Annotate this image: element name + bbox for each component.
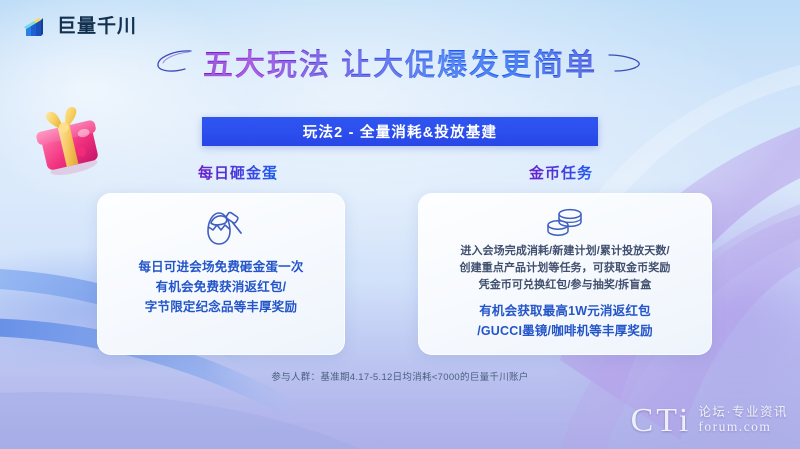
bar-chart-logo-icon [24, 14, 50, 38]
column-title-right: 金币任务 [529, 162, 593, 183]
column-title-left: 每日砸金蛋 [198, 162, 278, 183]
card-coin-task: 进入会场完成消耗/新建计划/累计投放天数/ 创建重点产品计划等任务，可获取金币奖… [418, 193, 712, 355]
footnote: 参与人群：基准期4.17-5.12日均消耗<7000的巨量千川账户 [0, 369, 800, 383]
spacer [418, 294, 712, 301]
card-line: 进入会场完成消耗/新建计划/累计投放天数/ [418, 243, 712, 260]
watermark-text-block: 论坛·专业资讯 forum.com [698, 405, 788, 437]
card-line-highlight: /GUCCI墨镜/咖啡机等丰厚奖励 [418, 321, 712, 341]
card-line: 字节限定纪念品等丰厚奖励 [97, 297, 345, 317]
card-line: 创建重点产品计划等任务，可获取金币奖励 [418, 260, 712, 277]
watermark-cn-text: 论坛·专业资讯 [698, 405, 788, 419]
swoosh-right-icon [607, 49, 645, 75]
headline-row: 五大玩法 让大促爆发更简单 [0, 40, 800, 84]
card-icon-wrap-left [97, 205, 345, 249]
brand-logo: 巨量千川 [24, 12, 137, 40]
card-line: 凭金币可兑换红包/参与抽奖/拆盲盒 [418, 277, 712, 294]
card-icon-wrap-right [418, 205, 712, 241]
card-body-left: 每日可进会场免费砸金蛋一次 有机会免费获消返红包/ 字节限定纪念品等丰厚奖励 [97, 257, 345, 317]
section-banner: 玩法2 - 全量消耗&投放基建 [202, 117, 598, 146]
gift-box-icon [23, 97, 112, 186]
watermark-url: forum.com [698, 419, 788, 435]
card-daily-egg: 每日可进会场免费砸金蛋一次 有机会免费获消返红包/ 字节限定纪念品等丰厚奖励 [97, 193, 345, 355]
watermark-logo: CTi [631, 405, 692, 437]
section-banner-text: 玩法2 - 全量消耗&投放基建 [303, 121, 497, 142]
card-line-highlight: 有机会获取最高1W元消返红包 [418, 301, 712, 321]
brand-logo-text: 巨量千川 [57, 17, 137, 36]
stacked-coins-icon [541, 205, 589, 241]
watermark: CTi 论坛·专业资讯 forum.com [631, 405, 788, 437]
card-line: 有机会免费获消返红包/ [97, 277, 345, 297]
card-body-right: 进入会场完成消耗/新建计划/累计投放天数/ 创建重点产品计划等任务，可获取金币奖… [418, 243, 712, 341]
swoosh-left-icon [155, 49, 193, 75]
slide-canvas: 巨量千川 五大玩法 让大促爆发更简单 [0, 0, 800, 449]
cracked-egg-hammer-icon [195, 205, 247, 249]
card-line: 每日可进会场免费砸金蛋一次 [97, 257, 345, 277]
page-title: 五大玩法 让大促爆发更简单 [203, 40, 597, 84]
